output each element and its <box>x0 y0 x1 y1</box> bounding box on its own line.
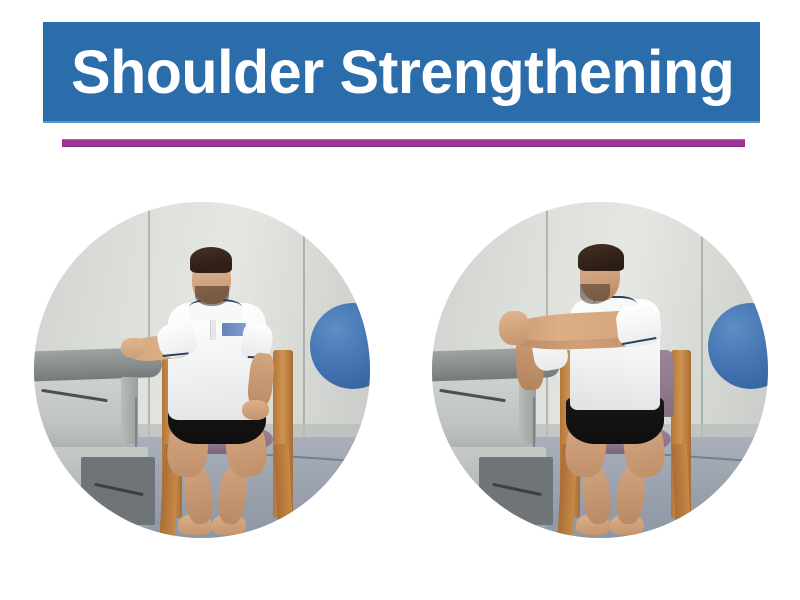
clasped-hands <box>499 311 529 345</box>
raised-sleeve <box>615 304 663 349</box>
clinic-scene-left <box>34 202 370 538</box>
hair <box>190 247 232 272</box>
page-title: Shoulder Strengthening <box>43 42 734 103</box>
hair <box>578 244 623 271</box>
accent-divider <box>62 139 745 147</box>
person-figure <box>432 202 768 538</box>
figure-end-position <box>432 202 768 538</box>
slide: Shoulder Strengthening <box>0 0 800 600</box>
figure-start-position <box>34 202 370 538</box>
person-figure <box>34 202 370 538</box>
photo-row <box>0 202 800 538</box>
clinic-scene-right <box>432 202 768 538</box>
right-hand-on-lap <box>242 400 269 420</box>
title-banner: Shoulder Strengthening <box>43 22 760 123</box>
resting-hand <box>121 338 145 358</box>
beard <box>195 286 229 306</box>
